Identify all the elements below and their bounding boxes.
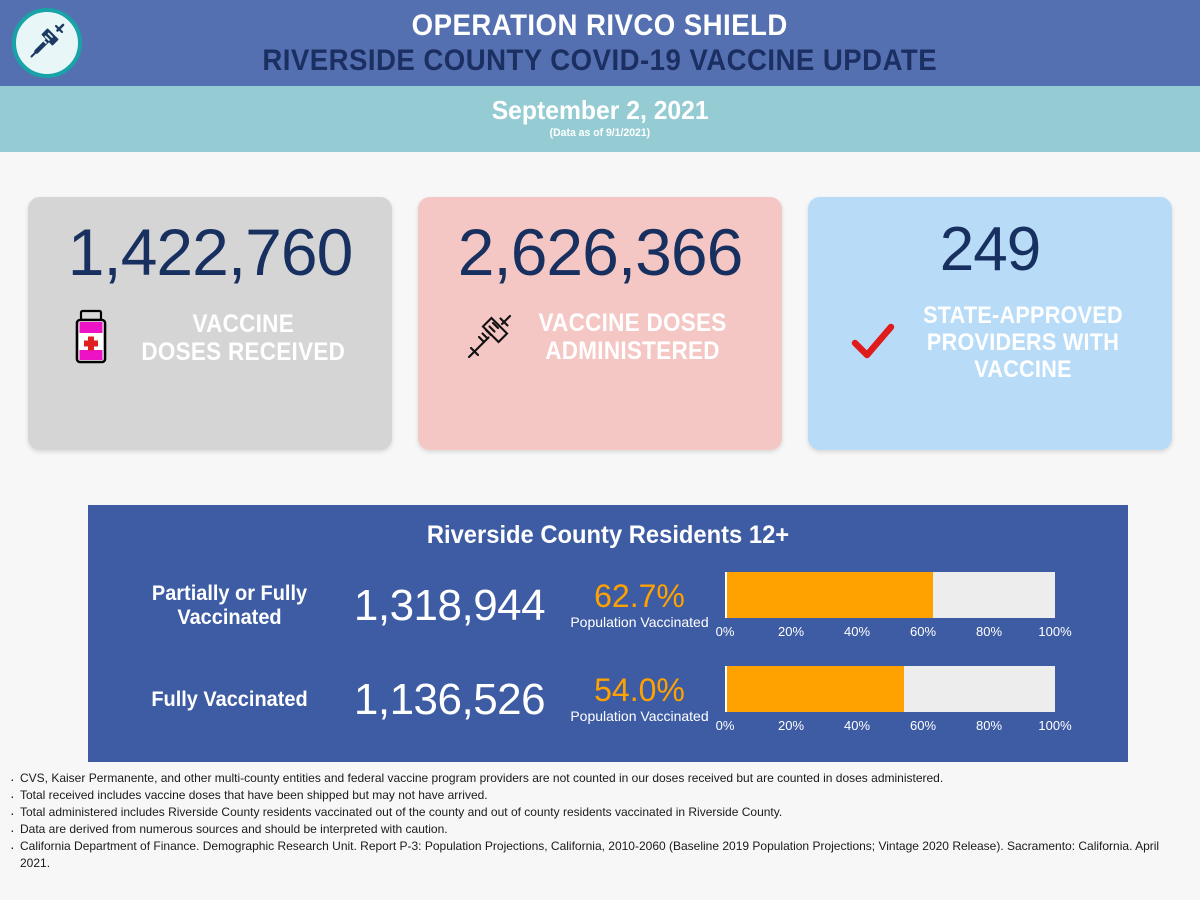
chart-row-caption: Population Vaccinated <box>562 614 717 630</box>
chart-row-bar: 0%20%40%60%80%100% <box>717 666 1106 734</box>
stat-label: VACCINE DOSES RECEIVED <box>141 310 345 366</box>
axis-tick-label: 0% <box>716 624 735 639</box>
chart-row-label-line-1: Partially or Fully <box>127 582 331 606</box>
axis-tick-label: 40% <box>844 718 870 733</box>
stat-value: 2,626,366 <box>458 205 743 301</box>
axis-tick-label: 20% <box>778 624 804 639</box>
red-checkmark-icon <box>846 323 900 363</box>
stat-label-line-3: VACCINE <box>923 357 1123 384</box>
page-title-secondary: RIVERSIDE COUNTY COVID-19 VACCINE UPDATE <box>263 46 938 76</box>
stat-label-line-1: VACCINE DOSES <box>539 309 727 337</box>
stat-label-line-1: STATE-APPROVED <box>923 303 1123 330</box>
bar-track <box>725 572 1055 618</box>
stat-card-footer: VACCINE DOSES ADMINISTERED <box>418 309 782 365</box>
chart-row: Partially or Fully Vaccinated 1,318,944 … <box>88 562 1128 650</box>
footnote-item: CVS, Kaiser Permanente, and other multi-… <box>10 770 1190 787</box>
data-as-of: (Data as of 9/1/2021) <box>550 127 650 139</box>
date-band: September 2, 2021 (Data as of 9/1/2021) <box>0 86 1200 152</box>
bar-axis: 0%20%40%60%80%100% <box>725 624 1055 640</box>
chart-row-caption: Population Vaccinated <box>562 708 717 724</box>
stat-card-footer: STATE-APPROVED PROVIDERS WITH VACCINE <box>808 303 1172 384</box>
chart-row-percent-block: 54.0% Population Vaccinated <box>562 674 717 727</box>
chart-row-label: Fully Vaccinated <box>127 688 331 712</box>
logo-badge <box>12 8 82 78</box>
bar-axis: 0%20%40%60%80%100% <box>725 718 1055 734</box>
stat-label-line-2: ADMINISTERED <box>539 337 727 365</box>
chart-row-label-line-1: Fully Vaccinated <box>127 688 331 712</box>
page-header: OPERATION RIVCO SHIELD RIVERSIDE COUNTY … <box>0 0 1200 86</box>
axis-tick-label: 80% <box>976 624 1002 639</box>
stat-label-line-2: PROVIDERS WITH <box>923 330 1123 357</box>
stat-label-line-2: DOSES RECEIVED <box>141 338 345 366</box>
axis-tick-label: 40% <box>844 624 870 639</box>
stat-label: STATE-APPROVED PROVIDERS WITH VACCINE <box>923 303 1123 384</box>
chart-row-percent: 54.0% <box>562 674 717 708</box>
stat-cards: 1,422,760 VACCINE DOSES RECEIVED <box>0 152 1200 450</box>
chart-row: Fully Vaccinated 1,136,526 54.0% Populat… <box>88 656 1128 744</box>
axis-tick-label: 60% <box>910 718 936 733</box>
footnote-item: California Department of Finance. Demogr… <box>10 838 1190 872</box>
chart-row-percent-block: 62.7% Population Vaccinated <box>562 580 717 633</box>
axis-tick-label: 100% <box>1038 624 1071 639</box>
stat-card-footer: VACCINE DOSES RECEIVED <box>28 309 392 367</box>
stat-card-doses-administered: 2,626,366 <box>418 197 782 450</box>
footnotes: CVS, Kaiser Permanente, and other multi-… <box>0 762 1200 872</box>
stat-label: VACCINE DOSES ADMINISTERED <box>539 309 727 365</box>
stat-card-approved-providers: 249 STATE-APPROVED PROVIDERS WITH VACCIN… <box>808 197 1172 450</box>
axis-tick-label: 100% <box>1038 718 1071 733</box>
axis-tick-label: 60% <box>910 624 936 639</box>
chart-row-label-line-2: Vaccinated <box>127 606 331 630</box>
axis-tick-label: 80% <box>976 718 1002 733</box>
stat-value: 1,422,760 <box>68 205 353 301</box>
bar-fill <box>727 666 904 712</box>
chart-row-count: 1,318,944 <box>337 581 562 631</box>
page-title-primary: OPERATION RIVCO SHIELD <box>263 11 938 41</box>
chart-row-label: Partially or Fully Vaccinated <box>127 582 331 630</box>
header-titles: OPERATION RIVCO SHIELD RIVERSIDE COUNTY … <box>233 11 966 76</box>
syringe-icon <box>26 20 68 67</box>
chart-row-count: 1,136,526 <box>337 675 562 725</box>
stat-label-line-1: VACCINE <box>141 310 345 338</box>
axis-tick-label: 20% <box>778 718 804 733</box>
residents-chart-panel: Riverside County Residents 12+ Partially… <box>88 505 1128 762</box>
syringe-icon <box>462 310 516 364</box>
vaccine-bottle-icon <box>64 309 118 367</box>
chart-title: Riverside County Residents 12+ <box>114 521 1102 550</box>
footnote-item: Data are derived from numerous sources a… <box>10 821 1190 838</box>
report-date: September 2, 2021 <box>492 97 709 124</box>
axis-tick-label: 0% <box>716 718 735 733</box>
stat-card-doses-received: 1,422,760 VACCINE DOSES RECEIVED <box>28 197 392 450</box>
stat-value: 249 <box>940 205 1040 295</box>
chart-row-percent: 62.7% <box>562 580 717 614</box>
chart-row-bar: 0%20%40%60%80%100% <box>717 572 1106 640</box>
footnote-item: Total received includes vaccine doses th… <box>10 787 1190 804</box>
bar-track <box>725 666 1055 712</box>
footnote-item: Total administered includes Riverside Co… <box>10 804 1190 821</box>
bar-fill <box>727 572 933 618</box>
